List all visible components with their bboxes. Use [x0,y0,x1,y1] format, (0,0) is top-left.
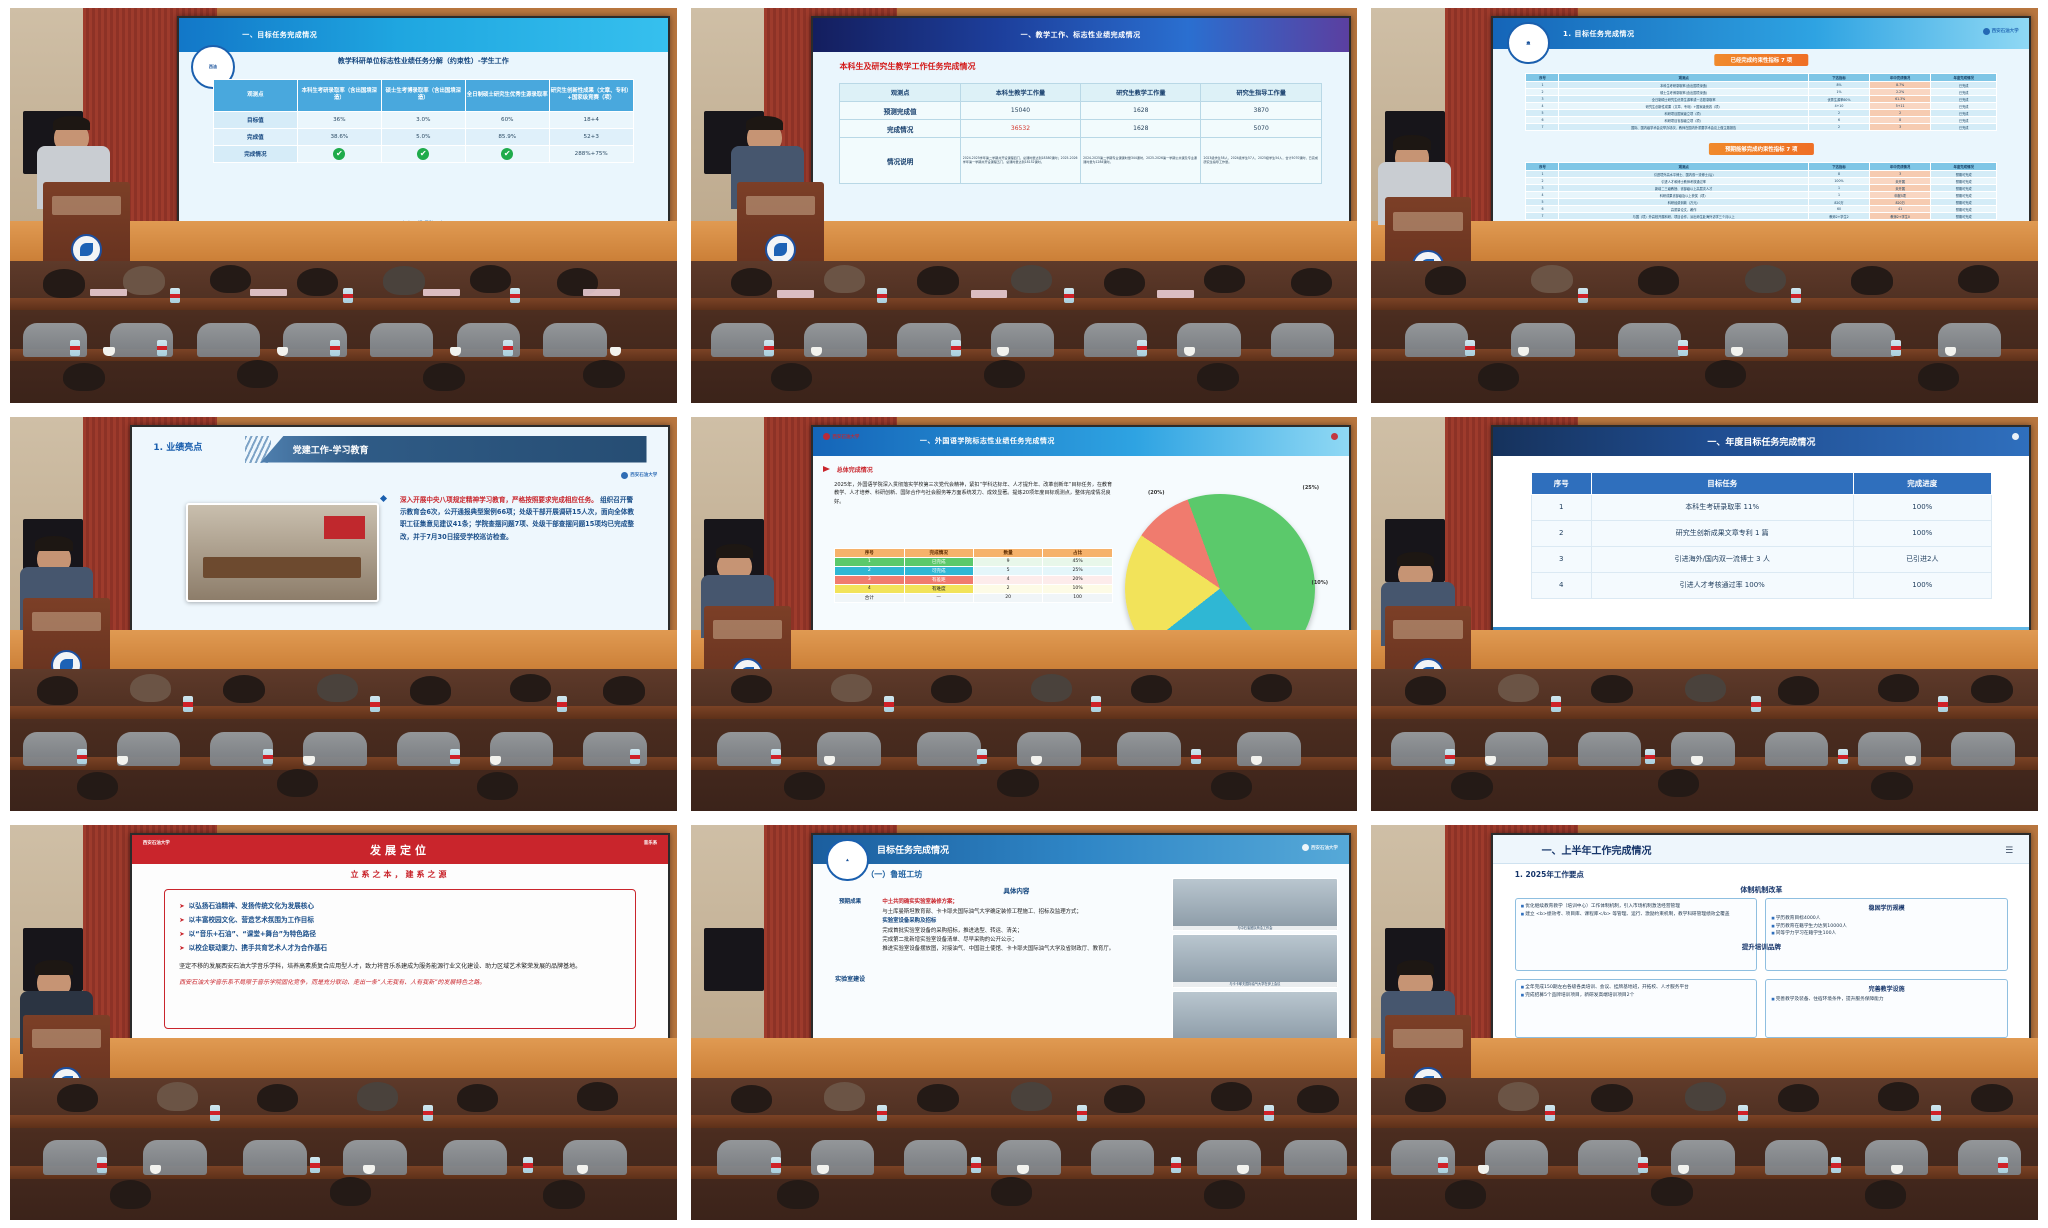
cell: 本科生考研录取率(含出国境深造) [1559,82,1808,89]
slide-4: 1. 业绩亮点 党建工作-学习教育 西安石油大学 深入开展中央八项规定精神学习教… [132,427,668,652]
attendee-head-front [1445,1180,1486,1208]
table-row: 目标值 36% 3.0% 60% 18+4 [213,111,633,128]
table-row: 7与国（境）外高校开展科研、项目合作、派出师生赴海外访学三个月以上教师2+学生2… [1526,213,1997,220]
water-bottle [1578,288,1588,304]
col-annual: 年度完成情况 [1931,74,1997,82]
attendee-head-front [1211,772,1252,800]
cell: 申报5项 [1870,192,1931,199]
cell: 8 [1808,171,1869,178]
cell: 25% [1043,566,1112,575]
cell: 教师2+学生0 [1870,213,1931,220]
table-row: 完成情况 ✔ ✔ ✔ 288%+75% [213,145,633,162]
cell: 4 [835,584,904,593]
cell: 2 [1808,110,1869,117]
chair [904,1140,967,1174]
attendee-head [157,1082,198,1110]
cell: 5 [973,566,1042,575]
attendee-head [37,676,78,704]
cell: 预期可完成 [1931,213,1997,220]
paper-cup [1891,1165,1902,1174]
slide-7: 发展定位 西安石油大学 音乐系 立系之本，建系之源 ➤以弘扬石油精神、发扬传统文… [132,835,668,1060]
cell: 预期可完成 [1931,192,1997,199]
body-line: 实验室设备采购及招标 [882,917,1161,926]
photo-column: 与中石油团队商洽工作会 与卡卡耶夫国际油气大学在伊上会议 鲁班实验室建设进展情况 [1172,878,1338,1044]
attendee-head [824,1082,865,1110]
table-row: 4引进人才考核通过率 100%100% [1531,572,1991,598]
auditorium-photo-2: 一、教学工作、标志性业绩完成情况 本科生及研究生教学工作任务完成情况 观测点 本… [691,8,1358,403]
paper-cup [817,1165,828,1174]
water-bottle [1551,696,1561,712]
cell: 2 [1531,520,1591,546]
nameplate [1157,290,1194,297]
attendee-head [1011,265,1052,293]
table-row: 3引进海外/国内双一流博士 3 人已引进2人 [1531,546,1991,572]
water-bottle [1445,749,1455,765]
cell: 1628 [1081,102,1201,120]
attendee-head-front [1658,769,1699,797]
attendee-head-front [1197,363,1238,391]
slide-title-bar: 目标任务完成情况 [813,835,1349,864]
chair [917,732,980,766]
desk-row-back [691,1115,1358,1128]
col-master-phd-rate: 硕士生考博录取率（含出国境深造） [381,79,465,111]
attendee-head-front [777,1180,818,1208]
auditorium-photo-1: 一、目标任务完成情况 西油 教学科研单位标志性业绩任务分解（约束性）-学生工作 … [10,8,677,403]
panel-3: 1. 目标任务完成情况 🏛 西安石油大学 已经完成约束性指标 7 项 序号 观测… [1371,8,2038,403]
cell: 9 [973,557,1042,566]
water-bottle [423,1105,433,1121]
water-bottle [1171,1157,1181,1173]
paper-cup [150,1165,161,1174]
water-bottle [1838,749,1848,765]
attendee-head [357,1082,398,1110]
bullet-bold: 深入开展中央八项规定精神学习教育，严格按照要求完成相应任务。 [400,496,598,504]
cell: 5070 [1201,120,1321,138]
university-wordmark: 西安石油大学 [1302,844,1338,851]
hamburger-icon[interactable]: ☰ [2005,846,2013,856]
cell: 已引进2人 [1853,546,1991,572]
university-wordmark: 西安石油大学 [621,472,657,479]
water-bottle [971,1157,981,1173]
card-title: 完善教学设施 [1771,984,2002,993]
water-bottle [1091,696,1101,712]
paper-cup [1237,1165,1248,1174]
row-label: 完成情况 [840,120,960,138]
col-status: 完成情况 [904,548,973,557]
cell: 85.9% [465,128,549,145]
slide-title-bar: 一、外国语学院标志性业绩任务完成情况 [813,427,1349,456]
conference-table [203,557,362,578]
projection-screen-4: 1. 业绩亮点 党建工作-学习教育 西安石油大学 深入开展中央八项规定精神学习教… [130,425,670,654]
chair [1765,1140,1828,1174]
cell: 已完成 [1931,117,1997,124]
wall-monitor [704,928,764,991]
audience [691,261,1358,403]
university-wordmark: 西安石油大学 [143,840,170,846]
chair [1765,732,1828,766]
desk-row-back [1371,298,2038,311]
water-bottle [1998,1157,2008,1173]
audience [1371,261,2038,403]
cell: 预期可完成 [1931,185,1997,192]
cell: 1 [1526,82,1559,89]
water-bottle [450,749,460,765]
attendee-head [577,1082,618,1110]
podium-plate [32,612,101,631]
water-bottle [884,696,894,712]
attendee-head [731,675,772,703]
table-header-row: 序号 完成情况 数量 占比 [835,548,1113,557]
photo-grid: 一、目标任务完成情况 西油 教学科研单位标志性业绩任务分解（约束性）-学生工作 … [0,0,2048,1228]
paper-cup [1485,756,1496,765]
photo-caption: 与卡卡耶夫国际油气大学在伊上会议 [1173,982,1337,986]
body-line: 完成第二批新增实验室设备清单、尽早采购的公开公示； [882,936,1161,945]
completion-pie-chart: (25%) (20%) (45%) (10%) [1107,476,1332,653]
content-box: ➤以弘扬石油精神、发扬传统文化为发展核心 ➤以丰富校园文化、营造艺术氛围为工作目… [164,889,636,1028]
list-item: 完善教学及装备、住宿环境条件，提升服务保障能力 [1771,996,2002,1004]
row-label: 情况说明 [840,138,960,184]
attendee-head [731,268,772,296]
water-bottle [1264,1105,1274,1121]
cell: 6 [1808,117,1869,124]
table-row: 7国际、国内级学术会议举办场次、教师在国内外重要学术会议上做主题报告23已完成 [1526,124,1997,131]
meeting-photo: 与中石油团队商洽工作会 [1172,878,1338,931]
university-wordmark: 西安石油大学 [1983,28,2019,35]
attendee-head-front [237,360,278,388]
cell: 已完成 [1931,110,1997,117]
cell: 3 [835,575,904,584]
col-share: 占比 [1043,548,1112,557]
table-row: 6科研项目省部级立项（项）68已完成 [1526,117,1997,124]
cell: 45% [1043,557,1112,566]
water-bottle [210,1105,220,1121]
attendee-head [603,676,644,704]
party-flag-icon [324,516,366,539]
chair [343,1140,406,1174]
audience [10,1078,677,1220]
chair [443,1140,506,1174]
table-row: 1引进境外高水平博士、国内双一流博士(后)83预期可完成 [1526,171,1997,178]
attendee-head [1104,268,1145,296]
paper-cup [1478,1165,1489,1174]
cell-note: 2024-2025学年第二学期共开设课程四门，总课时量达到18380课时；202… [960,138,1080,184]
attendee-head [1685,1082,1726,1110]
chair [1271,323,1334,357]
attendee-head [210,265,251,293]
nameplate [250,289,287,296]
panel-8: 目标任务完成情况 ⛰ 西安石油大学 （一）鲁班工坊 预期成果 实验室建设 具体内… [691,825,1358,1220]
water-bottle [343,288,353,304]
podium-plate [1393,620,1462,639]
auditorium-photo-6: 一、年度目标任务完成情况 序号 目标任务 完成进度 1本科生考研录取率 11%1… [1371,417,2038,812]
cell: 未开展 [1870,185,1931,192]
cell: 38.6% [297,128,381,145]
water-bottle [1465,340,1475,356]
table-header-row: 观测点 本科生教学工作量 研究生教学工作量 研究生指导工作量 [840,84,1321,102]
table-row: 完成值 38.6% 5.0% 85.9% 52+3 [213,128,633,145]
col-annual: 年度完成情况 [1931,163,1997,171]
attendee-head-front [771,363,812,391]
attendee-head [43,269,84,297]
podium-plate [52,196,121,215]
meeting-photo: 鲁班实验室建设进展情况 [1172,991,1338,1044]
attendee-head [410,676,451,704]
cell: 15040 [960,102,1080,120]
water-bottle [764,340,774,356]
attendee-head [1031,674,1072,702]
attendee-head [1851,266,1892,294]
attendee-head [1685,674,1726,702]
cell: 引进人才考核通过率 100% [1591,572,1853,598]
attendee-head [1591,1084,1632,1112]
cell: 4+10 [1808,103,1869,110]
cell: 100% [1853,520,1991,546]
cell: 100% [1853,572,1991,598]
cell: 60% [465,111,549,128]
row-label: 预测完成值 [840,102,960,120]
attendee-head-front [110,1180,151,1208]
attendee-head [1638,266,1679,294]
podium-plate [746,196,815,215]
slide-kicker: 1. 业绩亮点 [153,440,202,453]
attendee-head [1405,1084,1446,1112]
table-header-row: 序号 观测点 下达指标 年中完成情况 年度完成情况 [1526,163,1997,171]
water-bottle [503,340,513,356]
col-index: 序号 [1531,472,1591,494]
paper-cup [1031,756,1042,765]
desk-row-back [691,706,1358,719]
water-bottle [1645,749,1655,765]
cell: 已完成 [1931,96,1997,103]
podium-plate [1393,212,1462,231]
attendee-head [297,268,338,296]
attendee-head [1131,675,1172,703]
cell: 1628 [1081,120,1201,138]
row-label-lab: 实验室建设 [826,975,874,984]
slide-paragraph: 2025年，外国语学院深入贯彻落实学校第三次党代会精神，紧扣“学科达标年、人才提… [834,481,1113,508]
attendee-head [1211,1082,1252,1110]
water-bottle [157,340,167,356]
attendee-head [57,1084,98,1112]
list-item: ➤以“音乐+石油”、“课堂+舞台”为特色路径 [179,928,621,942]
cell: 1 [1531,494,1591,520]
water-bottle [951,340,961,356]
desk-row-back [10,1115,677,1128]
water-bottle [1077,1105,1087,1121]
water-bottle [771,1157,781,1173]
attendee-head-front [423,363,464,391]
cell: — [904,593,973,602]
water-bottle [1751,696,1761,712]
attendee-head [1425,266,1466,294]
cell: 1% [1808,89,1869,96]
cell: 4 [1526,103,1559,110]
col-observation: 观测点 [1559,74,1808,82]
column-header: 具体内容 [882,885,1150,895]
attendee-head [824,265,865,293]
chair [1237,732,1300,766]
cell: 高质量论文、著作 [1559,206,1808,213]
paper-cup [303,756,314,765]
cell: ✔ [297,145,381,162]
cell: 与国（境）外高校开展科研、项目合作、派出师生赴海外访学三个月以上 [1559,213,1808,220]
slide-title-bar: 发展定位 [132,835,668,864]
cell: 有差距 [904,575,973,584]
panel-4: 1. 业绩亮点 党建工作-学习教育 西安石油大学 深入开展中央八项规定精神学习教… [10,417,677,812]
list-item: 全年完成150期左右各级各类培训、会议、挂牌基地班，开拓校、人才服务平台 [1521,984,1752,992]
table-header-row: 序号 目标任务 完成进度 [1531,472,1991,494]
arrow-icon: ➤ [179,944,185,952]
row-label: 完成值 [213,128,297,145]
cell: 4 [973,575,1042,584]
attendee-head [383,266,424,294]
nameplate [90,289,127,296]
chair [997,1140,1060,1174]
attendee-head [223,675,264,703]
cell: 2 [973,584,1042,593]
col-target: 下达指标 [1808,163,1869,171]
cell: 20 [973,593,1042,602]
cell: 合计 [835,593,904,602]
water-bottle [330,340,340,356]
check-icon: ✔ [501,148,513,160]
panel-2: 一、教学工作、标志性业绩完成情况 本科生及研究生教学工作任务完成情况 观测点 本… [691,8,1358,403]
table-row: 3全日制硕士研究生优秀生源率或一志愿录取率优秀生源率60%61.3%已完成 [1526,96,1997,103]
cell: 3 [1526,96,1559,103]
water-bottle [263,749,273,765]
podium-plate [1393,1029,1462,1048]
chair [1117,732,1180,766]
attendee-head-front [330,1177,371,1205]
cell: 3 [1870,171,1931,178]
cell: 科研项目国家级立项（项） [1559,110,1808,117]
row-label: 完成情况 [213,145,297,162]
paper-cup [363,1165,374,1174]
card-mechanism: 优化继续教育教学（培训中心）工作体制机制，引入市场机制激活经营管理 建立 <b>… [1515,898,1758,971]
cell: 100% [1853,494,1991,520]
slide-subtitle: 立系之本，建系之源 [132,869,668,880]
cell: 科研成果省部级及以上获奖（项） [1559,192,1808,199]
slide-2: 一、教学工作、标志性业绩完成情况 本科生及研究生教学工作任务完成情况 观测点 本… [813,18,1349,243]
attendee-head-front [1451,772,1492,800]
cell: 3.0% [381,111,465,128]
projection-screen-2: 一、教学工作、标志性业绩完成情况 本科生及研究生教学工作任务完成情况 观测点 本… [811,16,1351,245]
slide-title-bar: 一、教学工作、标志性业绩完成情况 [813,18,1349,52]
slide-title-bar: 1. 目标任务完成情况 [1493,18,2029,49]
pie-label-younandu: (10%) [1312,580,1329,586]
attendee-head [130,674,171,702]
chair [1284,1140,1347,1174]
chair [563,1140,626,1174]
cell: 61.3% [1870,96,1931,103]
water-bottle [1545,1105,1555,1121]
water-bottle [310,1157,320,1173]
cell: 3 [1870,124,1931,131]
table-row: 情况说明 2024-2025学年第二学期共开设课程四门，总课时量达到18380课… [840,138,1321,184]
audience [10,669,677,811]
table-row: 预测完成值 15040 1628 3870 [840,102,1321,120]
department-wordmark: 音乐系 [644,840,658,846]
desk-row-back [10,706,677,719]
attendee-head-front [784,772,825,800]
water-bottle [77,749,87,765]
chair [1951,732,2014,766]
cell: ✔ [381,145,465,162]
university-wordmark [2012,433,2019,440]
attendee-head-front [1871,772,1912,800]
cell: 已完成 [904,557,973,566]
auditorium-photo-9: 一、上半年工作完成情况 ☰ 1. 2025年工作要点 体制机制改革 优化继续教育… [1371,825,2038,1220]
attendee-head-front [77,772,118,800]
attendee-head-front [583,360,624,388]
cell: 5 [1526,199,1559,206]
chair [1831,323,1894,357]
logo-dot-icon [1331,433,1338,440]
col-excellent-source: 全日制硕士研究生优秀生源录取率 [465,79,549,111]
water-bottle [1831,1157,1841,1173]
cell: 3 [1526,185,1559,192]
attendee-head-front [1204,1180,1245,1208]
table-row: 5科研项目国家级立项（项）22已完成 [1526,110,1997,117]
table-header-row: 序号 观测点 下达指标 年中完成情况 年度完成情况 [1526,74,1997,82]
student-work-table: 观测点 本科生考研录取率（含出国境深造） 硕士生考博录取率（含出国境深造） 全日… [213,79,634,163]
cell: 5.0% [381,128,465,145]
banner-completed: 已经完成约束性指标 7 项 [1715,54,1808,66]
water-bottle [630,749,640,765]
cell: 2 [1870,110,1931,117]
table-row: 1本科生考研录取率(含出国境深造)8%8.7%已完成 [1526,82,1997,89]
col-task: 目标任务 [1591,472,1853,494]
list-item: 优化继续教育教学（培训中心）工作体制机制，引入市场机制激活经营管理 [1521,903,1752,911]
cell: 引进人才和博士教师考核通过率 [1559,178,1808,185]
section-label: 1. 2025年工作要点 [1515,869,1584,880]
pie-label-wancheng: (25%) [1303,485,1320,491]
cell: 4 [1526,192,1559,199]
list-item: 学历教育在籍学生力达到10000人 [1771,923,2002,931]
cell: 6 [1526,206,1559,213]
attendee-head [1591,675,1632,703]
cell: 已完成 [1931,124,1997,131]
col-pg-teaching: 研究生教学工作量 [1081,84,1201,102]
photo-caption: 与中石油团队商洽工作会 [1173,926,1337,930]
nameplate [423,289,460,296]
paper-cup [577,1165,588,1174]
check-icon: ✔ [417,148,429,160]
table-row: 2可完成525% [835,566,1113,575]
slide-body: 深入开展中央八项规定精神学习教育，严格按照要求完成相应任务。 组织召开警示教育会… [400,494,636,543]
cell: 3 [1531,546,1591,572]
cell: 288%+75% [549,145,633,162]
panel-7: 发展定位 西安石油大学 音乐系 立系之本，建系之源 ➤以弘扬石油精神、发扬传统文… [10,825,677,1220]
chair [197,323,260,357]
cell: 36% [297,111,381,128]
arrow-icon: ➤ [179,916,185,924]
water-bottle [510,288,520,304]
list-item: ➤以丰富校园文化、营造艺术氛围为工作目标 [179,914,621,928]
banner-expected: 预期能够完成约束性指标 7 项 [1709,143,1813,155]
col-progress: 完成进度 [1853,472,1991,494]
chair [1671,732,1734,766]
body-line: 中土共同确实实验室装修方案； [882,898,1161,907]
attendee-head [1405,676,1446,704]
paper-cup [117,756,128,765]
row-label-outcome: 预期成果 [826,898,874,906]
slide-heading: 本科生及研究生教学工作任务完成情况 [839,61,975,72]
col-index: 序号 [1526,163,1559,171]
row-label: 目标值 [213,111,297,128]
attendee-head-front [277,769,318,797]
col-target: 下达指标 [1808,74,1869,82]
